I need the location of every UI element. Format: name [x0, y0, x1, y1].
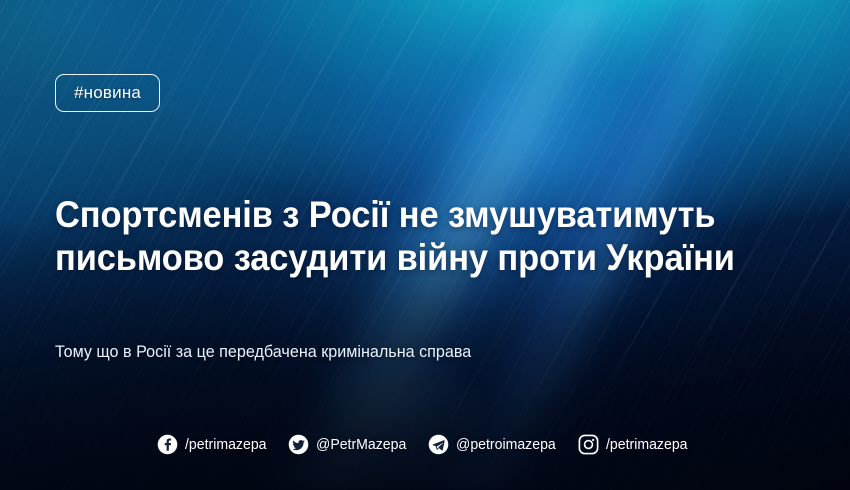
social-handle-twitter: @PetrMazepa	[316, 436, 406, 453]
social-handle-telegram: @petroimazepa	[456, 436, 556, 453]
social-link-twitter[interactable]: @PetrMazepa	[288, 434, 412, 455]
facebook-icon	[157, 434, 178, 455]
telegram-icon	[428, 434, 449, 455]
news-card: #новина Спортсменів з Росії не змушувати…	[0, 0, 850, 490]
social-handle-instagram: /petrimazepa	[606, 436, 688, 453]
hashtag-badge[interactable]: #новина	[55, 74, 160, 112]
instagram-icon	[578, 434, 599, 455]
social-link-instagram[interactable]: /petrimazepa	[578, 434, 693, 455]
social-link-telegram[interactable]: @petroimazepa	[428, 434, 562, 455]
article-subtitle: Тому що в Росії за це передбачена кримін…	[55, 341, 720, 363]
twitter-icon	[288, 434, 309, 455]
social-links-bar: /petrimazepa @PetrMazepa @petroimazepa	[0, 434, 850, 455]
card-content: #новина Спортсменів з Росії не змушувати…	[0, 0, 850, 490]
social-handle-facebook: /petrimazepa	[185, 436, 267, 453]
social-link-facebook[interactable]: /petrimazepa	[157, 434, 272, 455]
page-title: Спортсменів з Росії не змушуватимуть пис…	[55, 193, 748, 279]
